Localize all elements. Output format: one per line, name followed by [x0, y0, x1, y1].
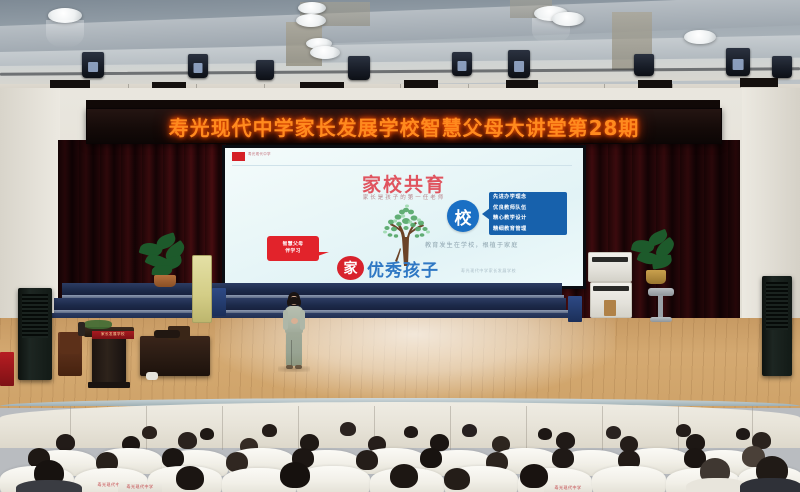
slide-note: 教育发生在学校，根植于家庭: [425, 240, 518, 249]
downlight-5: [552, 12, 584, 26]
audience-head: [178, 432, 197, 449]
slide-canvas: 寿光现代中学 家校共育 家长是孩子的第一任老师: [225, 148, 583, 286]
parent-callout-tail: [315, 252, 329, 257]
blue-crates-left: [212, 288, 226, 316]
downlight-8: [310, 46, 340, 59]
audience-seat-front: 寿光现代中学: [118, 482, 162, 492]
table-equipment: [154, 330, 180, 338]
audience-head: [606, 426, 621, 439]
audience-shoulders: [16, 480, 82, 492]
downlight-3: [296, 14, 326, 27]
stage-spotlight-8: [726, 48, 750, 76]
chair-left-back: [60, 332, 80, 354]
audience-head: [552, 448, 574, 468]
blue-crates-right: [568, 296, 582, 322]
potted-plant-right: [632, 232, 678, 284]
audience-head-front: [444, 468, 470, 490]
seat-label: 寿光现代中学: [555, 485, 582, 491]
school-logo-icon: [232, 152, 245, 161]
stage-spotlight-6: [508, 50, 530, 78]
podium-microphone: [78, 322, 85, 336]
school-circle: 校: [447, 200, 479, 232]
podium: [92, 335, 126, 383]
school-point-3: 精心教学设计: [493, 216, 563, 221]
air-conditioner-upper: [588, 252, 632, 282]
home-circle: 家: [337, 256, 364, 280]
slide-logo-caption: 寿光现代中学: [248, 152, 271, 157]
school-callout: 先进办学理念 优良教师队伍 精心教学设计 精细教育管理: [489, 192, 567, 235]
stage-spotlight-4: [348, 56, 370, 80]
parent-callout: 智慧父母 伴学习: [267, 236, 319, 261]
audience-head: [736, 428, 750, 440]
dark-table: [140, 336, 210, 376]
audience-head: [462, 424, 477, 437]
ceiling-fixture-box-7: [740, 78, 778, 87]
stage-spotlight-2: [188, 54, 208, 78]
speaker-tower-left: [18, 288, 52, 380]
parent-callout-line-1: 智慧父母: [271, 243, 315, 248]
red-equipment-box: [0, 352, 14, 386]
audience-head-front: [390, 464, 418, 488]
audience-area: 寿光现代中学 寿光现代中学 寿光现代中学: [0, 404, 800, 492]
presenter-shadow: [278, 366, 310, 372]
audience-head: [420, 448, 442, 468]
audience-head: [340, 422, 356, 436]
stage-floor-light-pool: [215, 318, 615, 400]
downlight-1-cone: [46, 20, 84, 48]
seat-label: 寿光现代中学: [127, 484, 154, 490]
presenter: [282, 292, 306, 370]
led-banner-text: 寿光现代中学家长发展学校智慧父母大讲堂第28期: [87, 109, 721, 143]
stage-spotlight-7: [634, 54, 654, 76]
audience-head: [200, 428, 214, 440]
speaker-tower-right: [762, 276, 792, 376]
parent-callout-line-2: 伴学习: [271, 250, 315, 255]
audience-head-front: [520, 464, 548, 488]
ceiling: [0, 0, 800, 96]
audience-head-front: [280, 462, 310, 488]
slide-footer: 寿光现代中学家长发展学校: [461, 268, 516, 274]
audience-head-front: [176, 466, 204, 490]
school-point-2: 优良教师队伍: [493, 206, 563, 211]
audience-head: [538, 428, 552, 440]
stage-spotlight-3: [256, 60, 274, 80]
excellent-children-text: 优秀孩子: [367, 256, 439, 281]
cable-coil: [146, 372, 158, 380]
led-banner: 寿光现代中学家长发展学校智慧父母大讲堂第28期: [86, 108, 722, 144]
downlight-2: [298, 2, 326, 14]
audience-head: [262, 424, 277, 437]
stage-spotlight-1: [82, 52, 104, 78]
school-point-4: 精细教育管理: [493, 227, 563, 232]
potted-plant-left: [138, 235, 190, 285]
auditorium-photo: 寿光现代中学家长发展学校智慧父母大讲堂第28期 寿光现代中学 家校共育 家长是孩…: [0, 0, 800, 492]
audience-head: [404, 426, 418, 438]
round-stool-leg: [658, 295, 663, 319]
audience-head: [162, 448, 184, 468]
slide-divider: [232, 165, 572, 166]
audience-seat: [592, 466, 666, 492]
wooden-stool-small: [604, 300, 616, 316]
audience-shoulders: [686, 478, 748, 492]
audience-head: [356, 450, 378, 470]
audience-head: [142, 426, 157, 439]
audience-head: [556, 432, 575, 449]
school-point-1: 先进办学理念: [493, 195, 563, 200]
podium-base: [88, 382, 130, 388]
audience-seat-front: 寿光现代中学: [544, 484, 592, 492]
stage-spotlight-5: [452, 52, 472, 76]
podium-flowers: [84, 320, 112, 329]
projection-screen: 寿光现代中学 家校共育 家长是孩子的第一任老师: [222, 145, 586, 289]
podium-banner: 家长发展学校: [92, 331, 134, 339]
stage-spotlight-9: [772, 56, 792, 78]
round-stool-base: [650, 317, 672, 322]
podium-banner-text: 家长发展学校: [92, 331, 134, 338]
audience-shoulders: [740, 478, 800, 492]
yellow-cabinet: [192, 255, 212, 323]
audience-head: [56, 434, 75, 451]
downlight-7: [684, 30, 716, 44]
